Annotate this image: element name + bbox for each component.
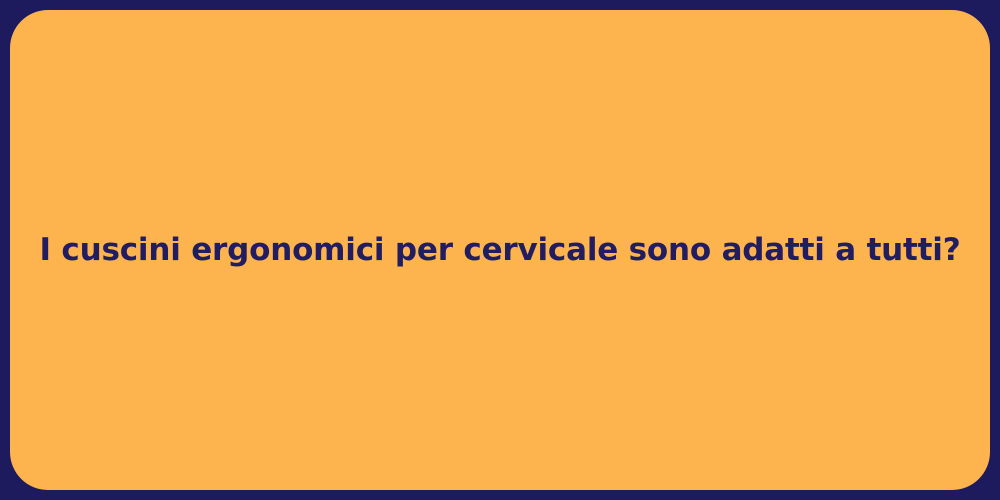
headline-text: I cuscini ergonomici per cervicale sono …: [0, 231, 1000, 270]
banner-card: I cuscini ergonomici per cervicale sono …: [10, 10, 990, 490]
banner-frame: I cuscini ergonomici per cervicale sono …: [0, 0, 1000, 500]
